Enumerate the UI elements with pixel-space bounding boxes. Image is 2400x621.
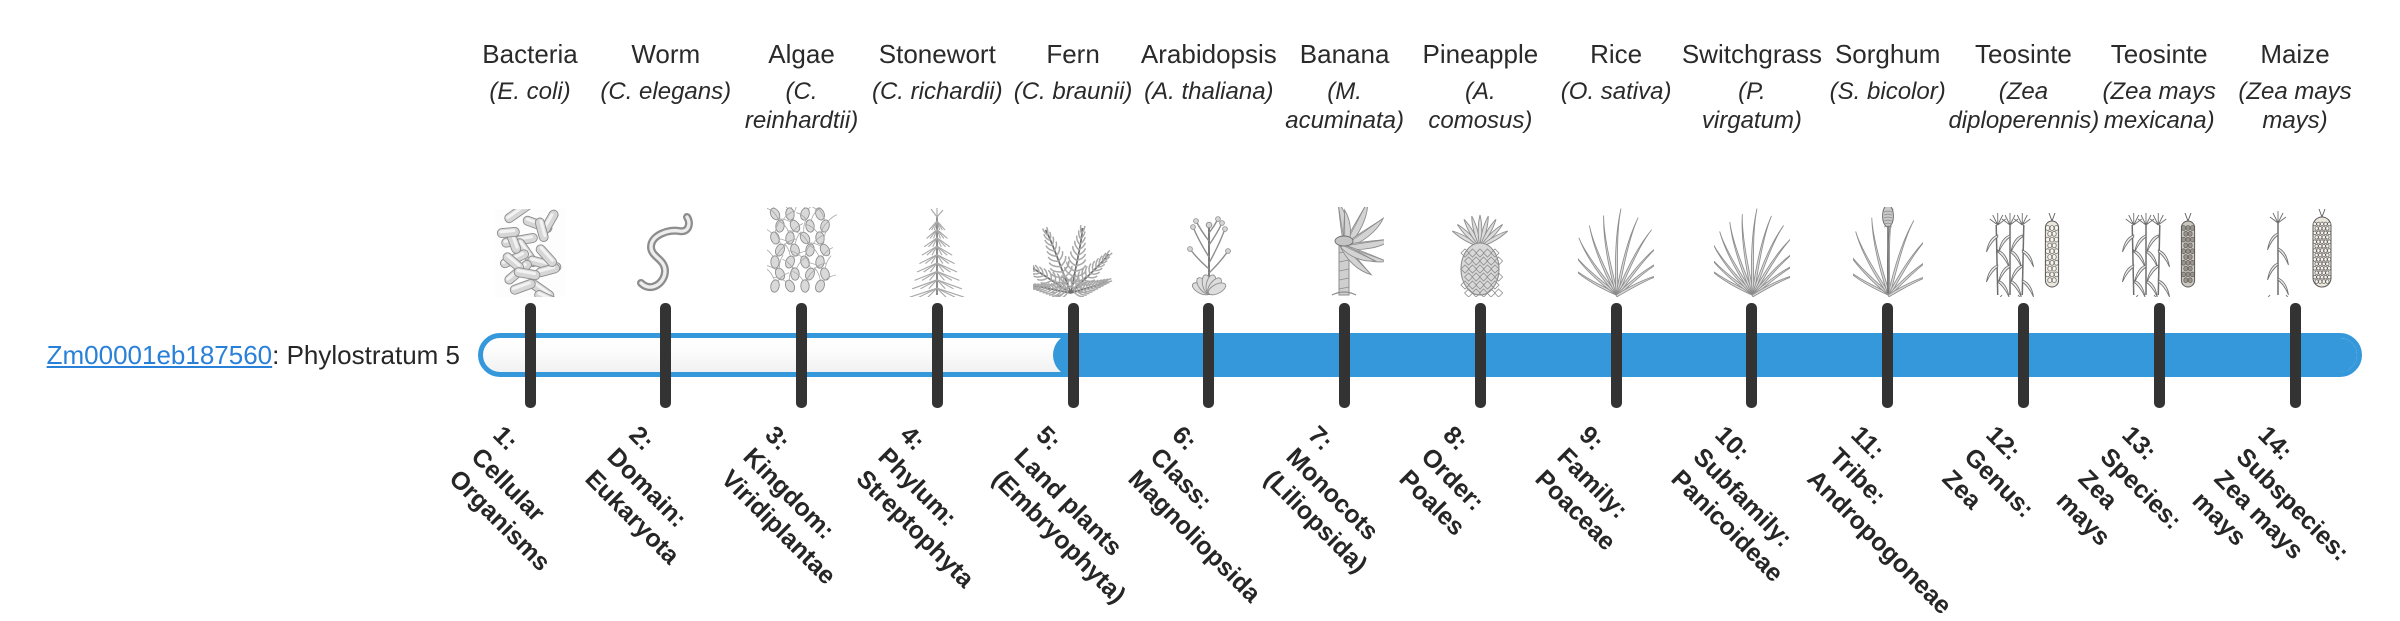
stratum-tick-5 bbox=[1068, 303, 1079, 408]
maize-illustration bbox=[2220, 205, 2370, 297]
stratum-label-4: 4:Phylum:Streptophyta bbox=[850, 420, 1025, 595]
stratum-tick-3 bbox=[796, 303, 807, 408]
stratum-tick-14 bbox=[2290, 303, 2301, 408]
stratum-tick-8 bbox=[1475, 303, 1486, 408]
species-common-name: Maize bbox=[2220, 38, 2370, 70]
phylostratum-progress-track[interactable] bbox=[478, 333, 2362, 377]
pineapple-illustration bbox=[1405, 205, 1555, 297]
sorghum-illustration bbox=[1813, 205, 1963, 297]
species-header-14: Maize(Zea maysmays) bbox=[2220, 38, 2370, 135]
fern-illustration bbox=[998, 205, 1148, 297]
species-header-2: Worm(C. elegans) bbox=[591, 38, 741, 106]
gene-label: Zm00001eb187560: Phylostratum 5 bbox=[40, 339, 460, 371]
species-scientific-line: (Zea mays bbox=[2084, 77, 2234, 106]
stratum-tick-6 bbox=[1203, 303, 1214, 408]
stratum-tick-9 bbox=[1611, 303, 1622, 408]
species-common-name: Stonewort bbox=[862, 38, 1012, 70]
stratum-label-6: 6:Class:Magnoliopsida bbox=[1121, 420, 1311, 610]
teosinte-diploperennis-illustration bbox=[1948, 205, 2098, 297]
species-header-7: Banana(M.acuminata) bbox=[1270, 38, 1420, 135]
species-common-name: Bacteria bbox=[455, 38, 605, 70]
stratum-label-3: 3:Kingdom:Viridiplantae bbox=[714, 420, 886, 592]
species-scientific-line: (C. bbox=[727, 77, 877, 106]
species-scientific-line: mays) bbox=[2220, 106, 2370, 135]
species-header-8: Pineapple(A.comosus) bbox=[1405, 38, 1555, 135]
species-scientific-line: comosus) bbox=[1405, 106, 1555, 135]
stratum-tick-11 bbox=[1882, 303, 1893, 408]
species-scientific-name: (A. thaliana) bbox=[1134, 77, 1284, 106]
species-common-name: Pineapple bbox=[1405, 38, 1555, 70]
species-scientific-line: (P. bbox=[1677, 77, 1827, 106]
species-common-name: Teosinte bbox=[1948, 38, 2098, 70]
species-scientific-name: (O. sativa) bbox=[1541, 77, 1691, 106]
species-scientific-line: (S. bicolor) bbox=[1813, 77, 1963, 106]
stratum-label-8: 8:Order:Poales bbox=[1393, 420, 1516, 543]
species-scientific-line: reinhardtii) bbox=[727, 106, 877, 135]
phylostratum-progress-fill bbox=[1053, 333, 2362, 377]
species-common-name: Worm bbox=[591, 38, 741, 70]
species-common-name: Rice bbox=[1541, 38, 1691, 70]
stratum-tick-10 bbox=[1746, 303, 1757, 408]
stratum-tick-12 bbox=[2018, 303, 2029, 408]
worm-illustration bbox=[591, 205, 741, 297]
species-scientific-name: (E. coli) bbox=[455, 77, 605, 106]
species-scientific-name: (S. bicolor) bbox=[1813, 77, 1963, 106]
species-scientific-name: (M.acuminata) bbox=[1270, 77, 1420, 135]
bacteria-illustration bbox=[455, 205, 605, 297]
species-scientific-name: (C.reinhardtii) bbox=[727, 77, 877, 135]
rice-illustration bbox=[1541, 205, 1691, 297]
species-scientific-line: diploperennis) bbox=[1948, 106, 2098, 135]
species-header-12: Teosinte(Zeadiploperennis) bbox=[1948, 38, 2098, 135]
teosinte-mexicana-illustration bbox=[2084, 205, 2234, 297]
phylostratum-value-text: Phylostratum 5 bbox=[287, 340, 460, 370]
species-scientific-name: (Zea maysmexicana) bbox=[2084, 77, 2234, 135]
species-common-name: Fern bbox=[998, 38, 1148, 70]
species-common-name: Teosinte bbox=[2084, 38, 2234, 70]
species-scientific-name: (C. richardii) bbox=[862, 77, 1012, 106]
arabidopsis-illustration bbox=[1134, 205, 1284, 297]
algae-illustration bbox=[727, 205, 877, 297]
stratum-label-14: 14:Subspecies:Zea maysmays bbox=[2185, 420, 2377, 612]
species-common-name: Switchgrass bbox=[1677, 38, 1827, 70]
species-common-name: Banana bbox=[1270, 38, 1420, 70]
species-header-1: Bacteria(E. coli) bbox=[455, 38, 605, 106]
species-scientific-name: (C. braunii) bbox=[998, 77, 1148, 106]
species-scientific-line: (C. richardii) bbox=[862, 77, 1012, 106]
stratum-tick-2 bbox=[660, 303, 671, 408]
species-scientific-line: (A. thaliana) bbox=[1134, 77, 1284, 106]
stonewort-illustration bbox=[862, 205, 1012, 297]
species-common-name: Algae bbox=[727, 38, 877, 70]
gene-label-separator: : bbox=[272, 340, 286, 370]
stratum-label-10: 10:Subfamily:Panicoideae bbox=[1664, 420, 1833, 589]
stratum-label-9: 9:Family:Poaceae bbox=[1528, 420, 1666, 558]
species-scientific-name: (Zeadiploperennis) bbox=[1948, 77, 2098, 135]
species-header-3: Algae(C.reinhardtii) bbox=[727, 38, 877, 135]
species-scientific-line: (E. coli) bbox=[455, 77, 605, 106]
species-scientific-line: (C. braunii) bbox=[998, 77, 1148, 106]
stratum-tick-13 bbox=[2154, 303, 2165, 408]
species-header-6: Arabidopsis(A. thaliana) bbox=[1134, 38, 1284, 106]
species-common-name: Sorghum bbox=[1813, 38, 1963, 70]
species-header-11: Sorghum(S. bicolor) bbox=[1813, 38, 1963, 106]
stratum-tick-1 bbox=[525, 303, 536, 408]
species-scientific-line: mexicana) bbox=[2084, 106, 2234, 135]
species-header-13: Teosinte(Zea maysmexicana) bbox=[2084, 38, 2234, 135]
species-scientific-name: (P.virgatum) bbox=[1677, 77, 1827, 135]
stratum-tick-7 bbox=[1339, 303, 1350, 408]
banana-illustration bbox=[1270, 205, 1420, 297]
species-header-9: Rice(O. sativa) bbox=[1541, 38, 1691, 106]
species-scientific-line: (M. bbox=[1270, 77, 1420, 106]
phylostratum-figure: Bacteria(E. coli)Worm(C. elegans)Algae(C… bbox=[0, 0, 2400, 580]
species-scientific-line: (Zea bbox=[1948, 77, 2098, 106]
species-header-5: Fern(C. braunii) bbox=[998, 38, 1148, 106]
switchgrass-illustration bbox=[1677, 205, 1827, 297]
species-common-name: Arabidopsis bbox=[1134, 38, 1284, 70]
stratum-label-5: 5:Land plants(Embryophyta) bbox=[985, 420, 1175, 610]
species-scientific-line: (Zea mays bbox=[2220, 77, 2370, 106]
species-scientific-line: virgatum) bbox=[1677, 106, 1827, 135]
species-scientific-line: (O. sativa) bbox=[1541, 77, 1691, 106]
stratum-tick-4 bbox=[932, 303, 943, 408]
species-header-4: Stonewort(C. richardii) bbox=[862, 38, 1012, 106]
stratum-label-1: 1:CellularOrganisms bbox=[442, 420, 600, 578]
stratum-label-13: 13:Species:Zeamays bbox=[2050, 420, 2210, 580]
species-scientific-name: (A.comosus) bbox=[1405, 77, 1555, 135]
species-scientific-name: (Zea maysmays) bbox=[2220, 77, 2370, 135]
species-scientific-line: (C. elegans) bbox=[591, 77, 741, 106]
species-scientific-line: (A. bbox=[1405, 77, 1555, 106]
species-header-10: Switchgrass(P.virgatum) bbox=[1677, 38, 1827, 135]
species-scientific-name: (C. elegans) bbox=[591, 77, 741, 106]
species-scientific-line: acuminata) bbox=[1270, 106, 1420, 135]
stratum-label-2: 2:Domain:Eukaryota bbox=[578, 420, 729, 571]
gene-id-link[interactable]: Zm00001eb187560 bbox=[47, 340, 273, 370]
